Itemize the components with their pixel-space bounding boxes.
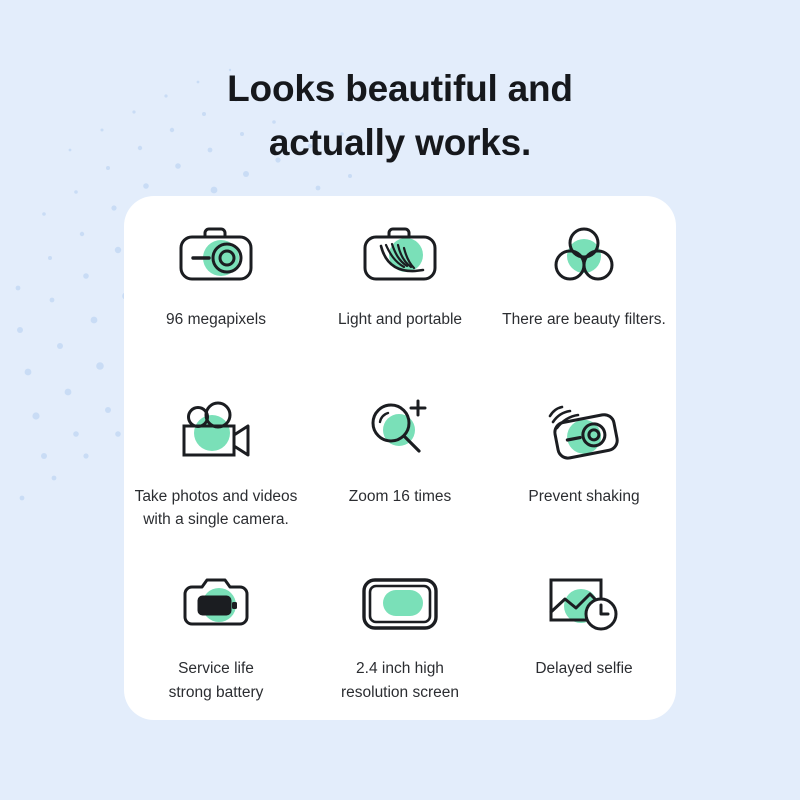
camera-feather-icon <box>359 216 441 294</box>
page-headline: Looks beautiful and actually works. <box>0 62 800 169</box>
feature-label: Take photos and videos with a single cam… <box>135 485 298 532</box>
video-camcorder-icon <box>174 391 258 469</box>
feature-label: There are beauty filters. <box>502 308 666 332</box>
photo-clock-icon <box>545 565 623 643</box>
feature-label: 96 megapixels <box>166 308 266 332</box>
feature-grid: 96 megapixels Light and portable <box>124 196 676 720</box>
feature-label: Prevent shaking <box>528 485 639 509</box>
feature-item-prevent-shaking[interactable]: Prevent shaking <box>492 371 676 546</box>
feature-label: Delayed selfie <box>535 657 632 681</box>
feature-item-resolution-screen[interactable]: 2.4 inch high resolution screen <box>308 545 492 720</box>
feature-label: 2.4 inch high resolution screen <box>341 657 459 704</box>
beauty-filter-circles-icon <box>546 216 622 294</box>
feature-label: Light and portable <box>338 308 462 332</box>
headline-line-2: actually works. <box>0 116 800 170</box>
feature-item-96-megapixels[interactable]: 96 megapixels <box>124 196 308 371</box>
feature-label: Zoom 16 times <box>349 485 452 509</box>
camera-shake-icon <box>542 391 626 469</box>
feature-item-zoom-16-times[interactable]: Zoom 16 times <box>308 371 492 546</box>
feature-item-service-life-battery[interactable]: Service life strong battery <box>124 545 308 720</box>
headline-line-1: Looks beautiful and <box>0 62 800 116</box>
camera-battery-icon <box>177 565 255 643</box>
feature-card: 96 megapixels Light and portable <box>124 196 676 720</box>
screen-display-icon <box>360 565 440 643</box>
feature-item-photos-and-videos[interactable]: Take photos and videos with a single cam… <box>124 371 308 546</box>
feature-item-light-and-portable[interactable]: Light and portable <box>308 196 492 371</box>
camera-megapixel-icon <box>175 216 257 294</box>
magnifier-plus-icon <box>363 391 437 469</box>
feature-item-delayed-selfie[interactable]: Delayed selfie <box>492 545 676 720</box>
feature-item-beauty-filters[interactable]: There are beauty filters. <box>492 196 676 371</box>
feature-label: Service life strong battery <box>169 657 264 704</box>
